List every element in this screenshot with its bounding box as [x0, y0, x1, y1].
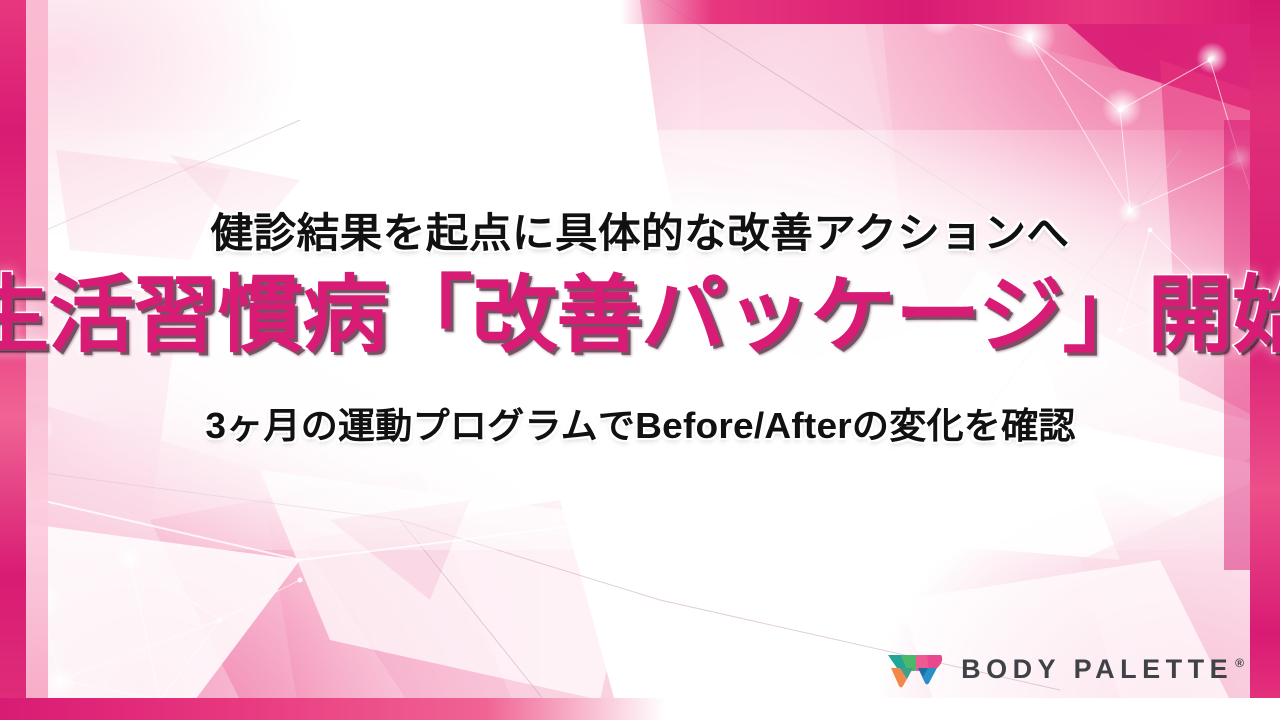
title-content: 健診結果を起点に具体的な改善アクションへ 生活習慣病「改善パッケージ」開始 3ヶ…	[0, 0, 1280, 720]
page-title: 生活習慣病「改善パッケージ」開始	[0, 270, 1280, 361]
registered-trademark-icon: ®	[1235, 657, 1244, 669]
logo-wordmark: BODY PALETTE ®	[961, 656, 1244, 683]
eyebrow-text: 健診結果を起点に具体的な改善アクションへ	[210, 211, 1069, 256]
brand-logo: BODY PALETTE ®	[887, 648, 1244, 690]
body-palette-mark-icon	[887, 648, 945, 690]
subtitle-text: 3ヶ月の運動プログラムでBefore/Afterの変化を確認	[205, 405, 1075, 446]
logo-brand-name: BODY PALETTE	[961, 656, 1233, 683]
title-slide: 健診結果を起点に具体的な改善アクションへ 生活習慣病「改善パッケージ」開始 3ヶ…	[0, 0, 1280, 720]
